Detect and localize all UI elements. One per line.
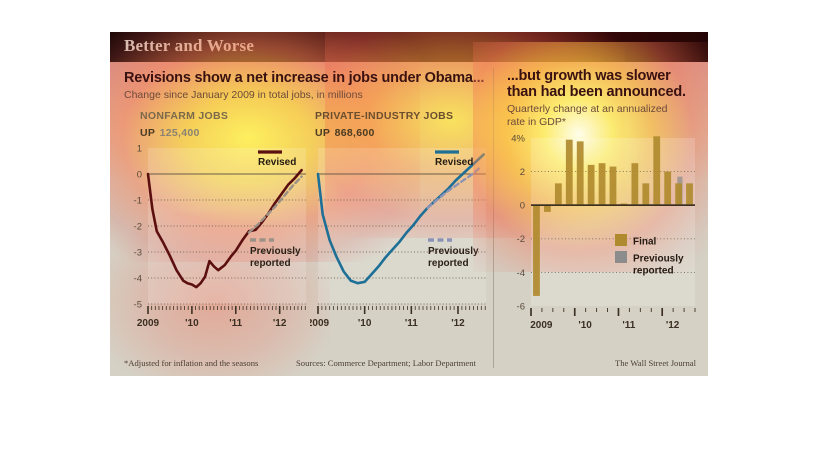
chart2-value-number: 868,600 [335,127,375,139]
y-tick-label: -3 [134,247,142,258]
chart1-value-number: 125,400 [160,127,200,139]
credit: The Wall Street Journal [615,358,696,368]
y-tick-label: -4 [517,268,525,279]
x-tick-label: '12 [451,318,465,329]
legend-label-previous-line1: Previously [633,254,684,265]
bar-final [588,165,595,205]
legend-label-previous-line2: reported [250,258,291,269]
legend-label-final: Final [633,237,657,248]
x-tick-label: '11 [405,318,418,329]
x-tick-label: '11 [229,318,242,329]
x-tick-label: '10 [578,320,592,331]
bar-final [686,183,693,205]
x-tick-label: '11 [622,320,635,331]
chart1-value-prefix: UP [140,127,155,139]
bar-final [544,205,551,212]
y-tick-label: 4% [511,133,525,144]
chart2-value: UP 868,600 [315,123,375,141]
graphic-title: Better and Worse [124,36,254,56]
y-tick-label: -1 [134,195,142,206]
bar-final [577,141,584,205]
right-panel: ...but growth was slower than had been a… [493,62,708,376]
x-tick-label: '10 [358,318,372,329]
chart-gdp-quarterly: 4%20-2-4-62009'10'11'12FinalPreviouslyre… [493,130,708,370]
chart1-value: UP 125,400 [140,123,200,141]
left-panel-subhead: Change since January 2009 in total jobs,… [124,89,363,101]
graphic-footer: *Adjusted for inflation and the seasons … [110,354,708,376]
right-panel-headline-line1: ...but growth was slower [507,68,671,84]
bar-final [555,183,562,205]
bar-final [631,163,638,205]
right-panel-subhead-line2: rate in GDP* [507,116,566,128]
x-tick-label: 2009 [137,318,160,329]
x-tick-label: 2009 [530,320,553,331]
legend-swatch-previous [615,251,627,263]
x-tick-label: 2009 [310,318,330,329]
right-panel-subhead-line1: Quarterly change at an annualized [507,103,668,115]
graphic-body: Revisions show a net increase in jobs un… [110,62,708,376]
bar-final [664,172,671,206]
legend-label-previous-line2: reported [428,258,469,269]
left-panel: Revisions show a net increase in jobs un… [110,62,493,376]
chart1-series-label: NONFARM JOBS [140,110,228,122]
y-tick-label: 0 [520,201,525,212]
graphic-title-bar: Better and Worse [110,32,708,62]
legend-label-previous-line1: Previously [250,246,301,257]
y-tick-label: -6 [517,301,525,312]
plot-background [148,148,306,304]
chart2-value-prefix: UP [315,127,330,139]
bar-final [566,140,573,206]
bar-final [533,205,540,296]
y-tick-label: -2 [517,234,525,245]
bar-final [610,167,617,206]
y-tick-label: 1 [137,143,142,154]
chart-private-industry-jobs: 2009'10'11'12RevisedPreviouslyreported [310,140,490,340]
x-tick-label: '12 [666,320,680,331]
y-tick-label: -4 [134,273,142,284]
bar-final [642,183,649,205]
y-tick-label: 0 [137,169,142,180]
x-tick-label: '12 [273,318,287,329]
bar-final [675,183,682,205]
bar-final [653,136,660,205]
y-tick-label: -2 [134,221,142,232]
chart2-series-label: PRIVATE-INDUSTRY JOBS [315,110,453,122]
wsj-infographic: Better and Worse Revisions show a net in… [110,32,708,376]
legend-label-revised: Revised [435,157,473,168]
x-tick-label: '10 [185,318,199,329]
legend-label-previous-line2: reported [633,266,674,277]
bar-final [599,163,606,205]
chart-nonfarm-jobs: 10-1-2-3-4-52009'10'11'12RevisedPrevious… [110,140,310,340]
y-tick-label: 2 [520,167,525,178]
left-panel-headline: Revisions show a net increase in jobs un… [124,70,484,86]
sources: Sources: Commerce Department; Labor Depa… [296,358,476,368]
y-tick-label: -5 [134,299,142,310]
legend-swatch-final [615,234,627,246]
footnote: *Adjusted for inflation and the seasons [124,358,258,368]
legend-label-previous-line1: Previously [428,246,479,257]
right-panel-headline-line2: than had been announced. [507,84,686,100]
legend-label-revised: Revised [258,157,296,168]
plot-background [531,138,695,306]
